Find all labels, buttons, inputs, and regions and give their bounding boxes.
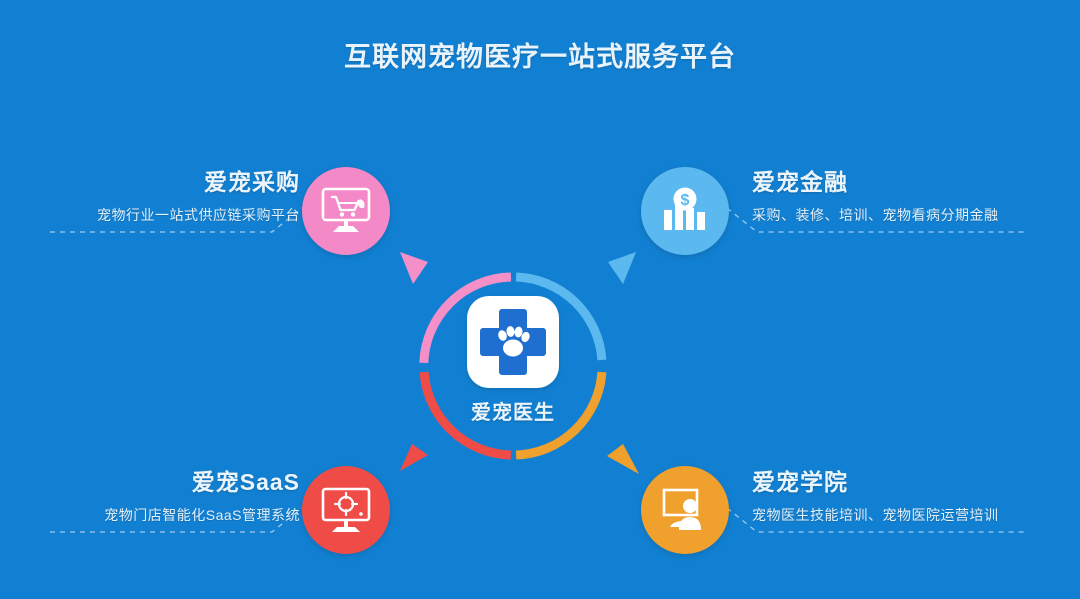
hub-app-icon[interactable] <box>467 296 559 388</box>
node-text-academy: 爱宠学院 宠物医生技能培训、宠物医院运营培训 <box>752 463 1072 525</box>
monitor-shopping-cart-icon <box>319 186 373 236</box>
node-desc-finance: 采购、装修、培训、宠物看病分期金融 <box>752 205 1072 225</box>
node-icon-purchase[interactable] <box>302 167 390 255</box>
node-text-finance: 爱宠金融 采购、装修、培训、宠物看病分期金融 <box>752 163 1072 225</box>
node-title-finance: 爱宠金融 <box>752 163 1072 197</box>
node-desc-academy: 宠物医生技能培训、宠物医院运营培训 <box>752 505 1072 525</box>
node-icon-academy[interactable] <box>641 466 729 554</box>
page-title: 互联网宠物医疗一站式服务平台 <box>0 35 1080 74</box>
node-text-purchase: 爱宠采购 宠物行业一站式供应链采购平台 <box>0 163 300 225</box>
svg-text:$: $ <box>681 192 690 209</box>
node-icon-saas[interactable] <box>302 466 390 554</box>
node-text-saas: 爱宠SaaS 宠物门店智能化SaaS管理系统 <box>0 463 300 525</box>
bar-chart-dollar-coin-icon: $ <box>659 186 711 236</box>
node-desc-saas: 宠物门店智能化SaaS管理系统 <box>0 505 300 525</box>
node-title-purchase: 爱宠采购 <box>0 163 300 197</box>
node-title-saas: 爱宠SaaS <box>0 463 300 497</box>
node-title-academy: 爱宠学院 <box>752 463 1072 497</box>
center-hub[interactable]: 爱宠医生 <box>415 268 611 464</box>
hub-label: 爱宠医生 <box>415 396 611 425</box>
node-desc-purchase: 宠物行业一站式供应链采购平台 <box>0 205 300 225</box>
arrow-to-finance-icon <box>608 252 636 284</box>
cross-paw-icon <box>467 296 559 388</box>
monitor-target-icon <box>319 486 373 534</box>
whiteboard-teacher-icon <box>659 486 711 534</box>
infographic-canvas: 互联网宠物医疗一站式服务平台 <box>0 0 1080 599</box>
node-icon-finance[interactable]: $ <box>641 167 729 255</box>
arrow-to-academy-icon <box>607 444 639 474</box>
